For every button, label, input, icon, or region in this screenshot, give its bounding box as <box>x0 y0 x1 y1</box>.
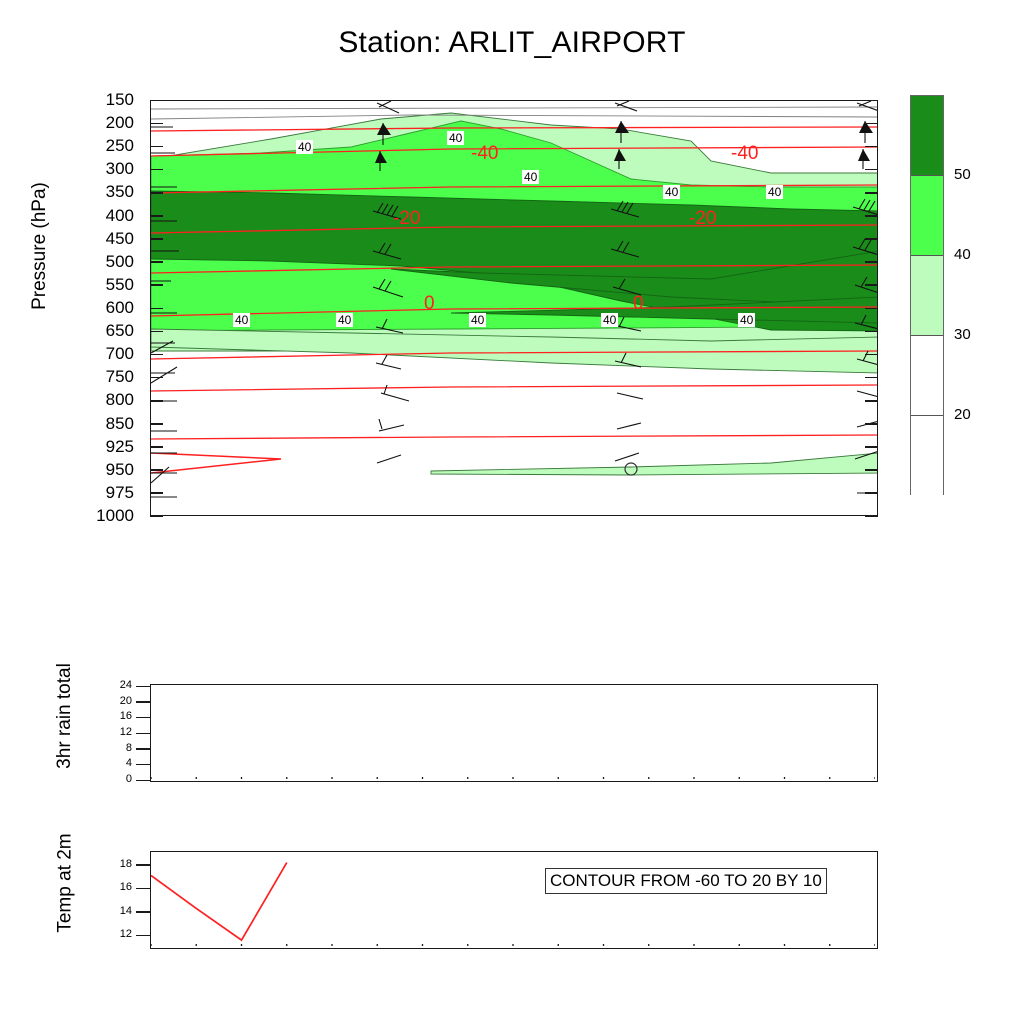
pressure-tick-200: 200 <box>106 114 134 131</box>
rain-tick-8: 8 <box>100 743 132 754</box>
pressure-tickmark <box>865 100 878 102</box>
colorbar-label-50: 50 <box>954 167 971 182</box>
rh-contour-label: 40 <box>296 140 313 154</box>
pressure-tickmark <box>150 354 163 356</box>
pressure-tickmark <box>865 423 878 425</box>
pressure-tickmark <box>865 516 878 518</box>
rh-fill-30-surface <box>431 453 878 475</box>
rain-tickmark <box>136 748 150 749</box>
isotherm-label: 0 <box>633 294 644 313</box>
pressure-tick-150: 150 <box>106 91 134 108</box>
rain-tick-12: 12 <box>100 727 132 738</box>
pressure-tickmark <box>865 331 878 333</box>
pressure-tickmark <box>150 100 163 102</box>
rh-contour-label: 40 <box>522 170 539 184</box>
pressure-tick-700: 700 <box>106 345 134 362</box>
rh-contour-label: 40 <box>469 313 486 327</box>
pressure-tickmark <box>865 469 878 471</box>
pressure-tickmark <box>150 400 163 402</box>
pressure-tickmark <box>150 169 163 171</box>
pressure-tickmark <box>865 284 878 286</box>
rain-tickmark <box>136 733 150 734</box>
rain-panel-title: 3hr rain total <box>54 626 76 806</box>
pressure-tickmark <box>150 516 163 518</box>
rh-contour-label: 40 <box>601 313 618 327</box>
analysis-lines <box>151 107 878 119</box>
temp-2m-line <box>151 863 287 941</box>
pressure-tickmark <box>150 331 163 333</box>
pressure-tickmark <box>150 446 163 448</box>
pressure-tickmark <box>150 469 163 471</box>
colorbar-band-0 <box>911 96 943 176</box>
temp-panel-title: Temp at 2m <box>55 796 77 971</box>
pressure-tickmark <box>150 492 163 494</box>
isotherm-label: -20 <box>393 209 420 228</box>
pressure-tickmark <box>150 192 163 194</box>
pressure-tickmark <box>150 284 163 286</box>
isotherm-label: 0 <box>424 294 435 313</box>
rh-contour-label: 40 <box>738 313 755 327</box>
colorbar-label-30: 30 <box>954 327 971 342</box>
pressure-tickmark <box>865 215 878 217</box>
isotherm-surface-wedge <box>151 453 281 473</box>
pressure-tick-950: 950 <box>106 461 134 478</box>
rh-contour-label: 40 <box>766 185 783 199</box>
pressure-tickmark <box>865 169 878 171</box>
rh-contour-label: 40 <box>663 185 680 199</box>
pressure-tickmark <box>865 261 878 263</box>
rain-tickmark <box>136 701 150 702</box>
rain-tickmark <box>136 780 150 781</box>
pressure-tickmark <box>150 261 163 263</box>
pressure-tickmark <box>865 492 878 494</box>
pressure-tickmark <box>865 446 878 448</box>
contour-annotation-box: CONTOUR FROM -60 TO 20 BY 10 <box>545 868 827 894</box>
pressure-tick-850: 850 <box>106 415 134 432</box>
page-title: Station: ARLIT_AIRPORT <box>0 26 1024 60</box>
rain-tick-24: 24 <box>100 680 132 691</box>
temp-tick-16: 16 <box>100 882 132 893</box>
rain-tickmark <box>136 717 150 718</box>
rh-contour-label: 40 <box>447 131 464 145</box>
pressure-axis-labels: 1502002503003504004505005506006507007508… <box>0 90 142 530</box>
temp-tickmark <box>136 911 150 912</box>
temp-xaxis-ticks <box>151 944 875 946</box>
pressure-tick-250: 250 <box>106 137 134 154</box>
rain-tick-0: 0 <box>100 774 132 785</box>
upper-air-cross-section-panel: -40-40-20-200040404040404040404040 <box>150 100 878 516</box>
rain-tickmark <box>136 686 150 687</box>
rh-contour-label: 40 <box>233 313 250 327</box>
pressure-tick-750: 750 <box>106 368 134 385</box>
pressure-tickmark <box>150 308 163 310</box>
rain-tick-4: 4 <box>100 758 132 769</box>
pressure-tickmark <box>865 308 878 310</box>
pressure-tickmark <box>865 377 878 379</box>
temp-tick-14: 14 <box>100 906 132 917</box>
humidity-colorbar <box>910 95 944 495</box>
isotherm-label: -20 <box>689 209 716 228</box>
pressure-tickmark <box>865 123 878 125</box>
rain-tick-16: 16 <box>100 711 132 722</box>
pressure-tickmark <box>150 377 163 379</box>
rh-contour-label: 40 <box>336 313 353 327</box>
pressure-tickmark <box>150 215 163 217</box>
rain-xaxis-ticks <box>151 777 875 779</box>
colorbar-band-1 <box>911 176 943 256</box>
colorbar-label-20: 20 <box>954 407 971 422</box>
pressure-tickmark <box>865 354 878 356</box>
pressure-axis-title: Pressure (hPa) <box>29 146 51 346</box>
pressure-tick-650: 650 <box>106 322 134 339</box>
pressure-tick-350: 350 <box>106 183 134 200</box>
isotherm-label: -40 <box>731 144 758 163</box>
rain-tick-20: 20 <box>100 696 132 707</box>
pressure-tick-300: 300 <box>106 160 134 177</box>
temp-tick-12: 12 <box>100 929 132 940</box>
pressure-tickmark <box>150 238 163 240</box>
pressure-tick-925: 925 <box>106 438 134 455</box>
temp-tickmark <box>136 864 150 865</box>
pressure-tickmark <box>865 238 878 240</box>
pressure-tick-1000: 1000 <box>96 507 134 524</box>
pressure-tick-600: 600 <box>106 299 134 316</box>
colorbar-band-2 <box>911 256 943 336</box>
isotherm-label: -40 <box>471 144 498 163</box>
colorbar-band-4 <box>911 416 943 496</box>
pressure-tickmark <box>150 146 163 148</box>
pressure-tickmark <box>865 400 878 402</box>
temp-tickmark <box>136 935 150 936</box>
rain-tickmark <box>136 764 150 765</box>
colorbar-band-3 <box>911 336 943 416</box>
pressure-tickmark <box>865 146 878 148</box>
rain-total-panel <box>150 684 878 782</box>
temp-tick-18: 18 <box>100 859 132 870</box>
pressure-tickmark <box>150 123 163 125</box>
pressure-tick-550: 550 <box>106 276 134 293</box>
pressure-tick-800: 800 <box>106 391 134 408</box>
pressure-tick-450: 450 <box>106 230 134 247</box>
temp-2m-panel <box>150 851 878 949</box>
colorbar-label-40: 40 <box>954 247 971 262</box>
pressure-tick-500: 500 <box>106 253 134 270</box>
pressure-tick-975: 975 <box>106 484 134 501</box>
temp-tickmark <box>136 888 150 889</box>
pressure-tick-400: 400 <box>106 207 134 224</box>
pressure-tickmark <box>150 423 163 425</box>
pressure-tickmark <box>865 192 878 194</box>
